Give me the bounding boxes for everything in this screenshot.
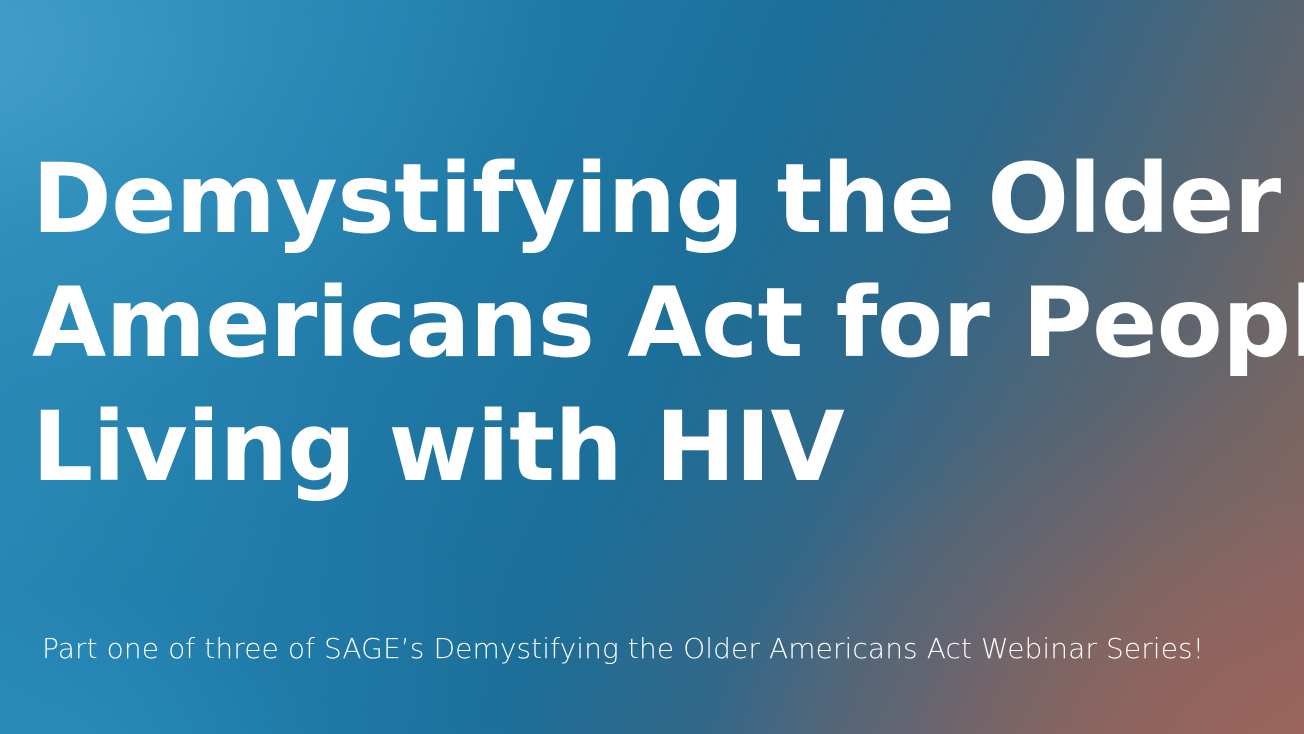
title-line-3: Living with HIV xyxy=(32,385,1294,509)
presentation-slide: Demystifying the Older Americans Act for… xyxy=(0,0,1304,734)
slide-title: Demystifying the Older Americans Act for… xyxy=(32,137,1294,509)
slide-subtitle: Part one of three of SAGE’s Demystifying… xyxy=(42,630,1204,668)
slide-content: Demystifying the Older Americans Act for… xyxy=(0,0,1304,734)
title-line-2: Americans Act for People xyxy=(32,261,1294,385)
title-line-1: Demystifying the Older xyxy=(32,137,1294,261)
